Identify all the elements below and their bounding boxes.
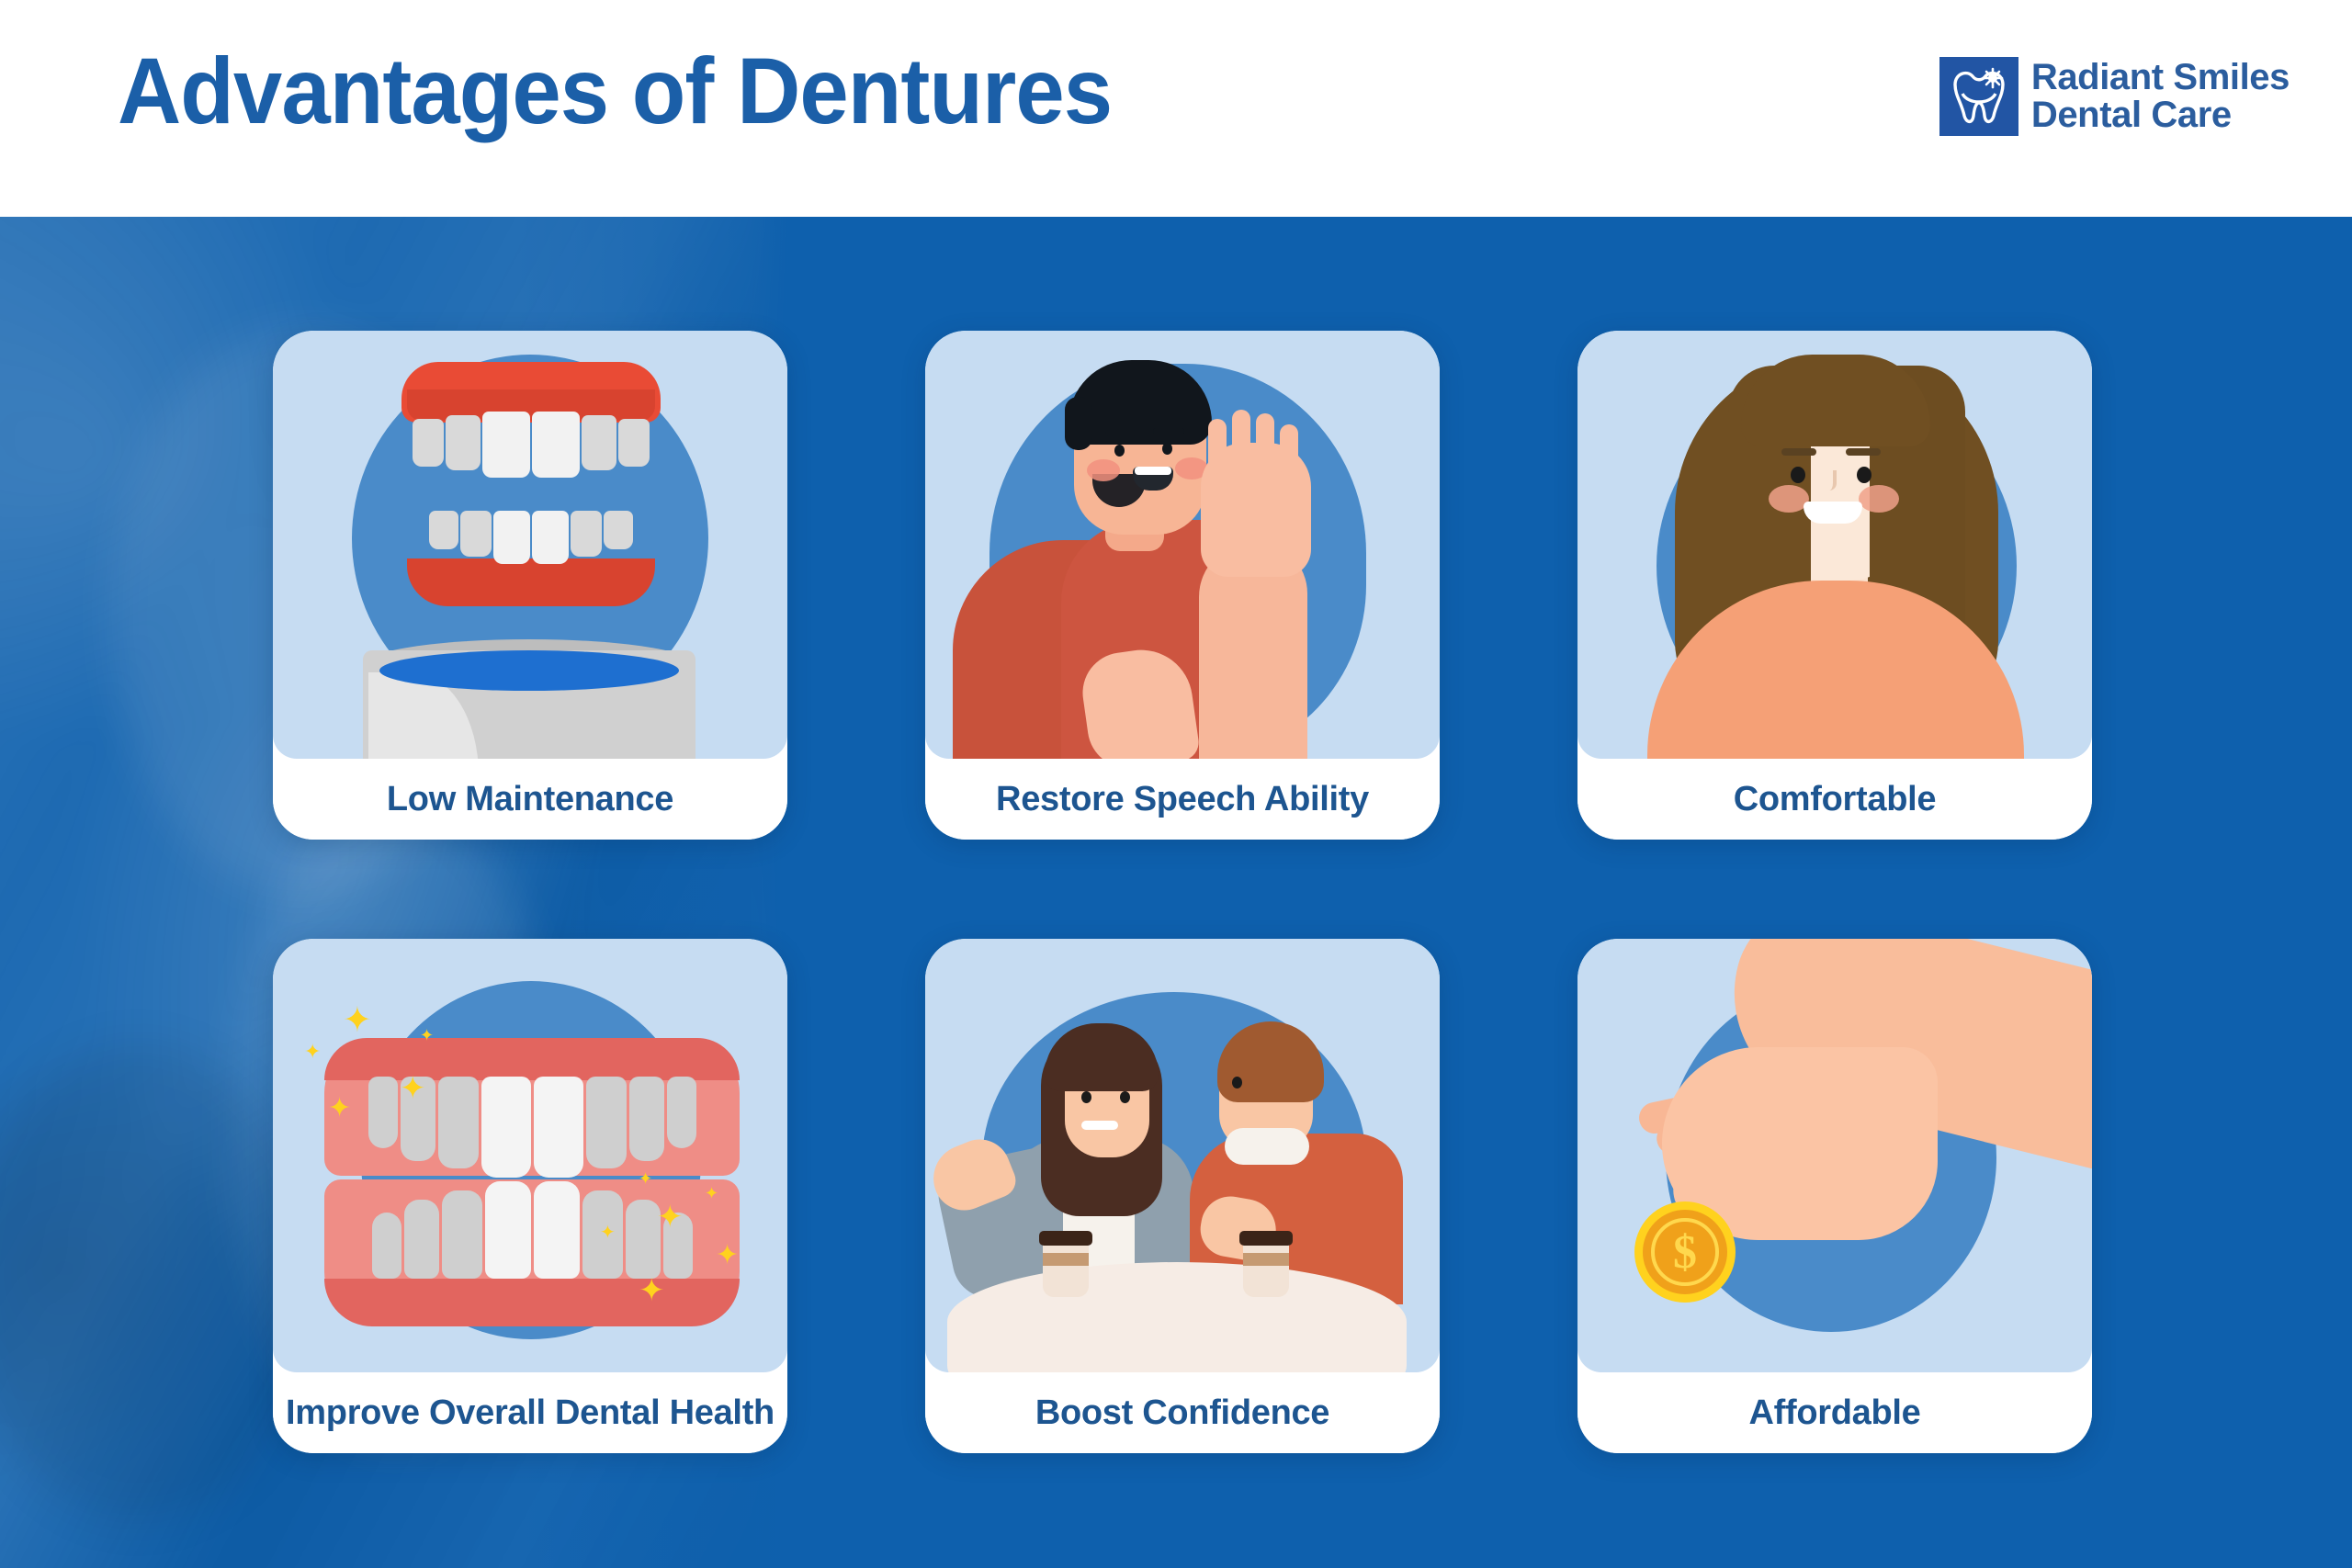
denture-lower-gum-shade (324, 1279, 740, 1326)
coin-icon: $ (1634, 1201, 1736, 1303)
woman-smile (1804, 502, 1862, 524)
benefit-label: Restore Speech Ability (925, 759, 1440, 840)
benefit-card-low-maintenance[interactable]: Low Maintenance (273, 331, 787, 840)
page-title: Advantages of Dentures (118, 44, 1112, 138)
sparkle-icon: ✦ (328, 1095, 351, 1122)
man-finger-1 (1208, 419, 1227, 474)
woman-eye-right (1120, 1091, 1130, 1103)
header-bar: Advantages of Dentures Radian (0, 0, 2352, 217)
coin-symbol: $ (1651, 1218, 1719, 1286)
man-brow-right (1153, 428, 1184, 434)
benefit-label: Improve Overall Dental Health (273, 1372, 787, 1453)
benefit-card-affordable[interactable]: $ Affordable (1577, 939, 2092, 1453)
man-finger-4 (1280, 424, 1298, 476)
woman-nose (1826, 470, 1837, 491)
two-people-talking-icon (925, 939, 1440, 1372)
benefit-card-improve-dental-health[interactable]: ✦ ✦ ✦ ✦ ✦ ✦ ✦ ✦ ✦ ✦ ✦ Improve Overall De… (273, 939, 787, 1453)
benefit-label: Comfortable (1577, 759, 2092, 840)
man-teeth (1135, 467, 1171, 475)
sparkle-icon: ✦ (420, 1027, 434, 1043)
sparkle-icon: ✦ (639, 1170, 652, 1187)
man-eye-left (1114, 445, 1125, 457)
man-finger-2 (1232, 410, 1250, 474)
man-cheek-left (1087, 459, 1120, 481)
benefit-label: Low Maintenance (273, 759, 787, 840)
infographic-page: Advantages of Dentures Radian (0, 0, 2352, 1568)
benefit-card-boost-confidence[interactable]: Boost Confidence (925, 939, 1440, 1453)
sparkle-icon: ✦ (400, 1073, 426, 1104)
logo-wordmark: Radiant Smiles Dental Care (2031, 59, 2290, 134)
dentures-in-glass-icon (273, 331, 787, 759)
tooth-sparkle-icon (1939, 57, 2018, 136)
woman-eye-left (1081, 1091, 1091, 1103)
man-eye-right (1162, 443, 1172, 455)
coffee-cup-right (1243, 1238, 1289, 1297)
man-speaking-icon (925, 331, 1440, 759)
woman-cheek-right (1859, 485, 1899, 513)
man-finger-3 (1256, 413, 1274, 474)
woman-hair-top (1741, 355, 1930, 446)
sparkle-icon: ✦ (716, 1242, 739, 1269)
benefits-grid: Low Maintenance (0, 217, 2352, 1568)
woman-eye-left (1791, 467, 1805, 483)
brand-logo: Radiant Smiles Dental Care (1939, 57, 2290, 136)
woman-smile (1081, 1121, 1118, 1130)
man-collar (1225, 1128, 1309, 1165)
hand-holding-coin-icon: $ (1577, 939, 2092, 1372)
sparkle-icon: ✦ (657, 1201, 684, 1233)
smiling-woman-icon (1577, 331, 2092, 759)
sparkling-dentures-icon: ✦ ✦ ✦ ✦ ✦ ✦ ✦ ✦ ✦ ✦ ✦ (273, 939, 787, 1372)
water-surface (379, 650, 679, 691)
logo-line-2: Dental Care (2031, 96, 2290, 134)
denture-upper-gum-shade (324, 1038, 740, 1080)
sparkle-icon: ✦ (343, 1003, 372, 1038)
woman-brow-left (1781, 448, 1816, 456)
benefit-card-comfortable[interactable]: Comfortable (1577, 331, 2092, 840)
logo-line-1: Radiant Smiles (2031, 59, 2290, 96)
benefit-label: Boost Confidence (925, 1372, 1440, 1453)
table-surface (947, 1262, 1407, 1372)
coffee-cup-left (1043, 1238, 1089, 1297)
sparkle-icon: ✦ (304, 1042, 321, 1062)
man-sideburn (1065, 397, 1092, 450)
woman-eye-right (1857, 467, 1871, 483)
benefit-card-restore-speech-ability[interactable]: Restore Speech Ability (925, 331, 1440, 840)
woman-brow-right (1846, 448, 1881, 456)
denture-lower-teeth (416, 511, 646, 566)
denture-upper-teeth (337, 1077, 727, 1179)
man-eye (1232, 1077, 1242, 1089)
benefit-label: Affordable (1577, 1372, 2092, 1453)
sparkle-icon: ✦ (639, 1275, 665, 1306)
man-brow-left (1105, 430, 1136, 436)
sparkle-icon: ✦ (600, 1224, 616, 1242)
sparkle-icon: ✦ (705, 1185, 718, 1201)
denture-upper-teeth (413, 412, 650, 478)
